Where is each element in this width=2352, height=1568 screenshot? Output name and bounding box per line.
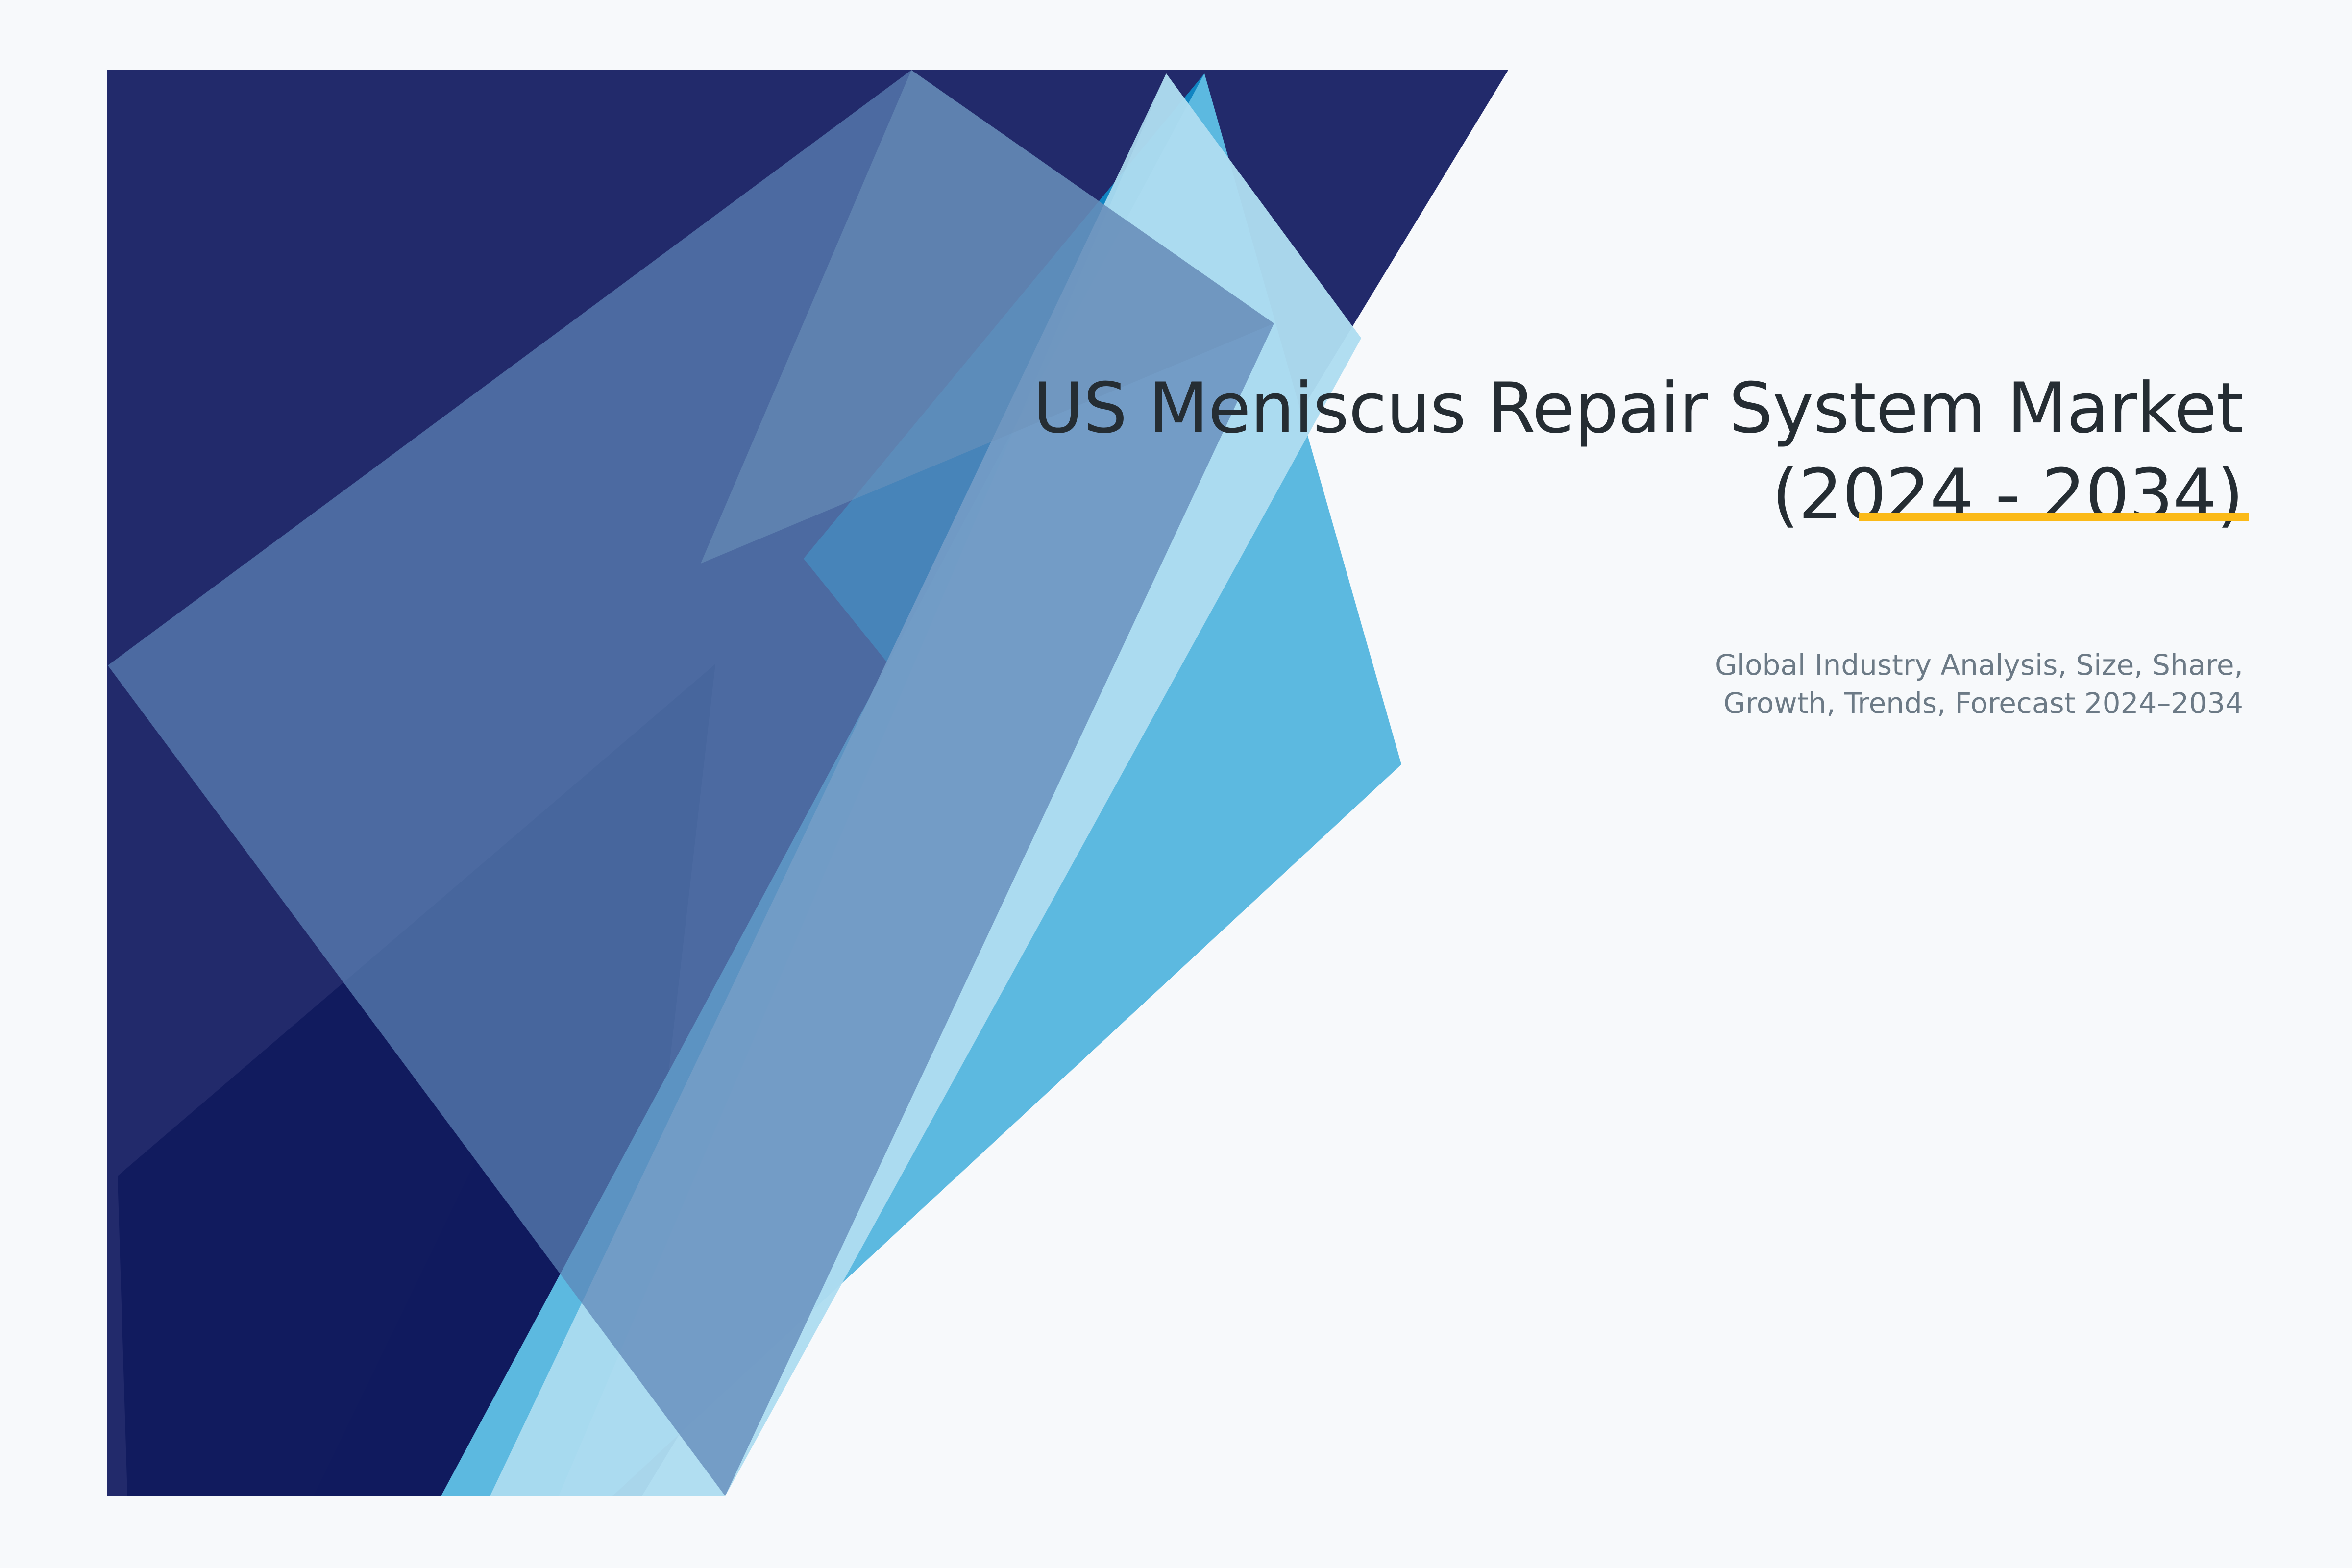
title-line-1: US Meniscus Repair System Market bbox=[675, 366, 2243, 452]
title-line-2: (2024 - 2034) bbox=[1772, 452, 2243, 538]
cover-page: US Meniscus Repair System Market (2024 -… bbox=[0, 0, 2352, 1568]
subtitle-line-2: Growth, Trends, Forecast 2024–2034 bbox=[1263, 684, 2243, 722]
cover-text-layer: US Meniscus Repair System Market (2024 -… bbox=[0, 0, 2352, 1568]
page-title: US Meniscus Repair System Market (2024 -… bbox=[675, 366, 2243, 538]
subtitle-line-1: Global Industry Analysis, Size, Share, bbox=[1263, 646, 2243, 684]
page-subtitle: Global Industry Analysis, Size, Share, G… bbox=[1263, 646, 2243, 722]
